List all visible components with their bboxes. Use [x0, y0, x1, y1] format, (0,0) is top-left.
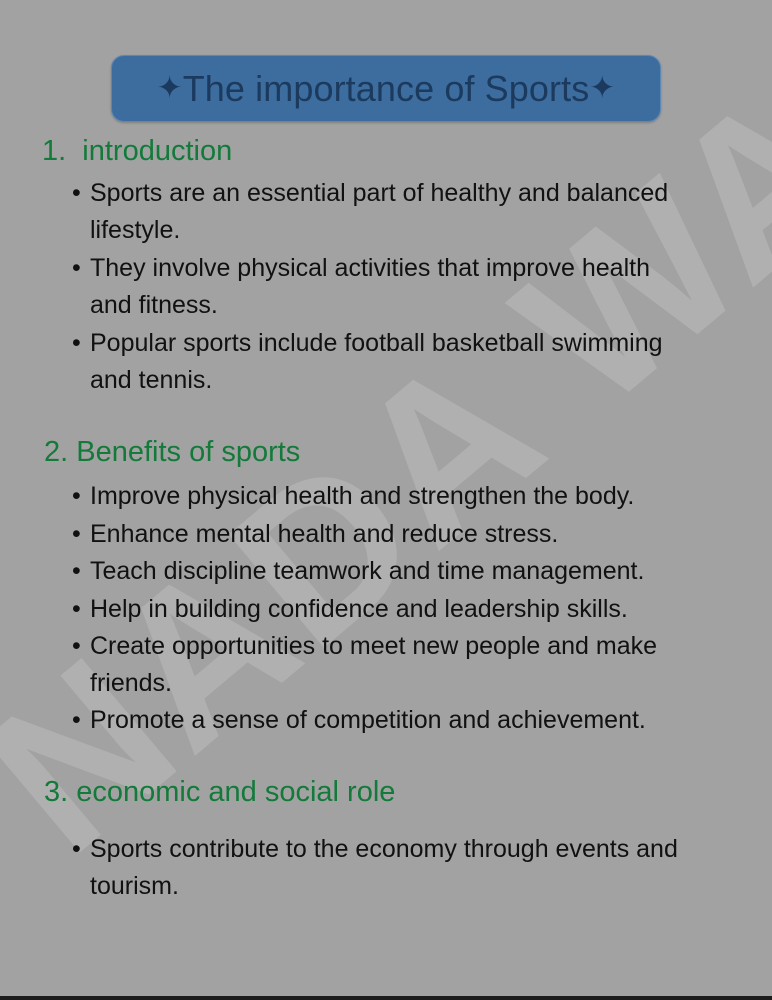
list-item: They involve physical activities that im…	[0, 250, 752, 323]
section-heading-3: 3. economic and social role	[0, 740, 752, 809]
slide-content: ✦The importance of Sports✦ 1. introducti…	[0, 0, 772, 904]
list-item: Sports contribute to the economy through…	[0, 831, 752, 904]
list-item: Popular sports include football basketba…	[0, 325, 752, 398]
sparkle-right-icon: ✦	[589, 72, 615, 103]
list-item: Teach discipline teamwork and time manag…	[0, 553, 752, 590]
section-heading-2: 2. Benefits of sports	[0, 400, 752, 469]
list-item: Improve physical health and strengthen t…	[0, 478, 752, 515]
list-item: Sports are an essential part of healthy …	[0, 175, 752, 248]
list-item: Help in building confidence and leadersh…	[0, 591, 752, 628]
section-heading-1: 1. introduction	[0, 122, 752, 168]
section-introduction: 1. introduction Sports are an essential …	[0, 122, 752, 398]
title-box: ✦The importance of Sports✦	[111, 55, 661, 122]
slide-canvas: NADA WAEL ✦The importance of Sports✦ 1. …	[0, 0, 772, 1000]
sparkle-left-icon: ✦	[157, 72, 183, 103]
list-item: Create opportunities to meet new people …	[0, 628, 752, 701]
bullet-list-1: Sports are an essential part of healthy …	[0, 168, 752, 398]
section-benefits: 2. Benefits of sports Improve physical h…	[0, 400, 752, 739]
page-title: ✦The importance of Sports✦	[157, 68, 616, 110]
section-economic-social-role: 3. economic and social role Sports contr…	[0, 740, 752, 904]
body-area: 1. introduction Sports are an essential …	[0, 122, 772, 904]
list-item: Promote a sense of competition and achie…	[0, 702, 752, 739]
list-item: Enhance mental health and reduce stress.	[0, 516, 752, 553]
title-container: ✦The importance of Sports✦	[0, 0, 772, 122]
bullet-list-2: Improve physical health and strengthen t…	[0, 469, 752, 739]
title-label: The importance of Sports	[183, 68, 590, 110]
bullet-list-3: Sports contribute to the economy through…	[0, 809, 752, 904]
